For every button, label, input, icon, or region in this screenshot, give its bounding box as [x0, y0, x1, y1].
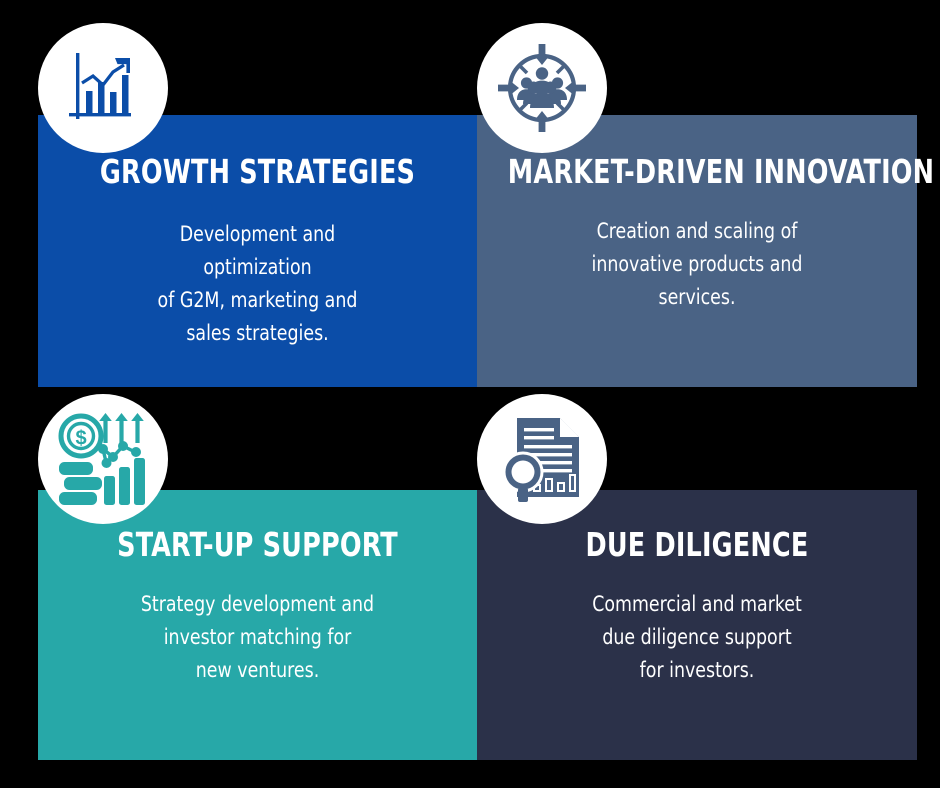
card-description: Commercial and market due diligence supp…	[499, 588, 895, 687]
card-description: Development and optimization of G2M, mar…	[60, 218, 455, 350]
card-market-driven-innovation[interactable]: MARKET-DRIVEN INNOVATION Creation and sc…	[477, 115, 917, 387]
card-description: Strategy development and investor matchi…	[60, 588, 455, 687]
card-start-up-support[interactable]: START-UP SUPPORT Strategy development an…	[38, 490, 477, 760]
target-audience-icon	[496, 42, 588, 134]
card-icon-badge-due-diligence	[477, 394, 607, 524]
services-infographic: GROWTH STRATEGIES Development and optimi…	[0, 0, 940, 788]
card-growth-strategies[interactable]: GROWTH STRATEGIES Development and optimi…	[38, 115, 477, 387]
document-magnifier-icon	[497, 414, 587, 504]
card-due-diligence[interactable]: DUE DILIGENCE Commercial and market due …	[477, 490, 917, 760]
funding-growth-icon: $	[57, 413, 149, 505]
svg-text:$: $	[75, 428, 86, 450]
card-description: Creation and scaling of innovative produ…	[499, 215, 895, 314]
card-title: GROWTH STRATEGIES	[69, 155, 447, 188]
card-title: DUE DILIGENCE	[508, 528, 886, 561]
card-title: START-UP SUPPORT	[69, 528, 447, 561]
card-icon-badge-start-up-support: $	[38, 394, 168, 524]
card-icon-badge-growth-strategies	[38, 23, 168, 153]
card-title: MARKET-DRIVEN INNOVATION	[508, 155, 886, 188]
card-icon-badge-market-driven-innovation	[477, 23, 607, 153]
growth-chart-icon	[60, 45, 146, 131]
